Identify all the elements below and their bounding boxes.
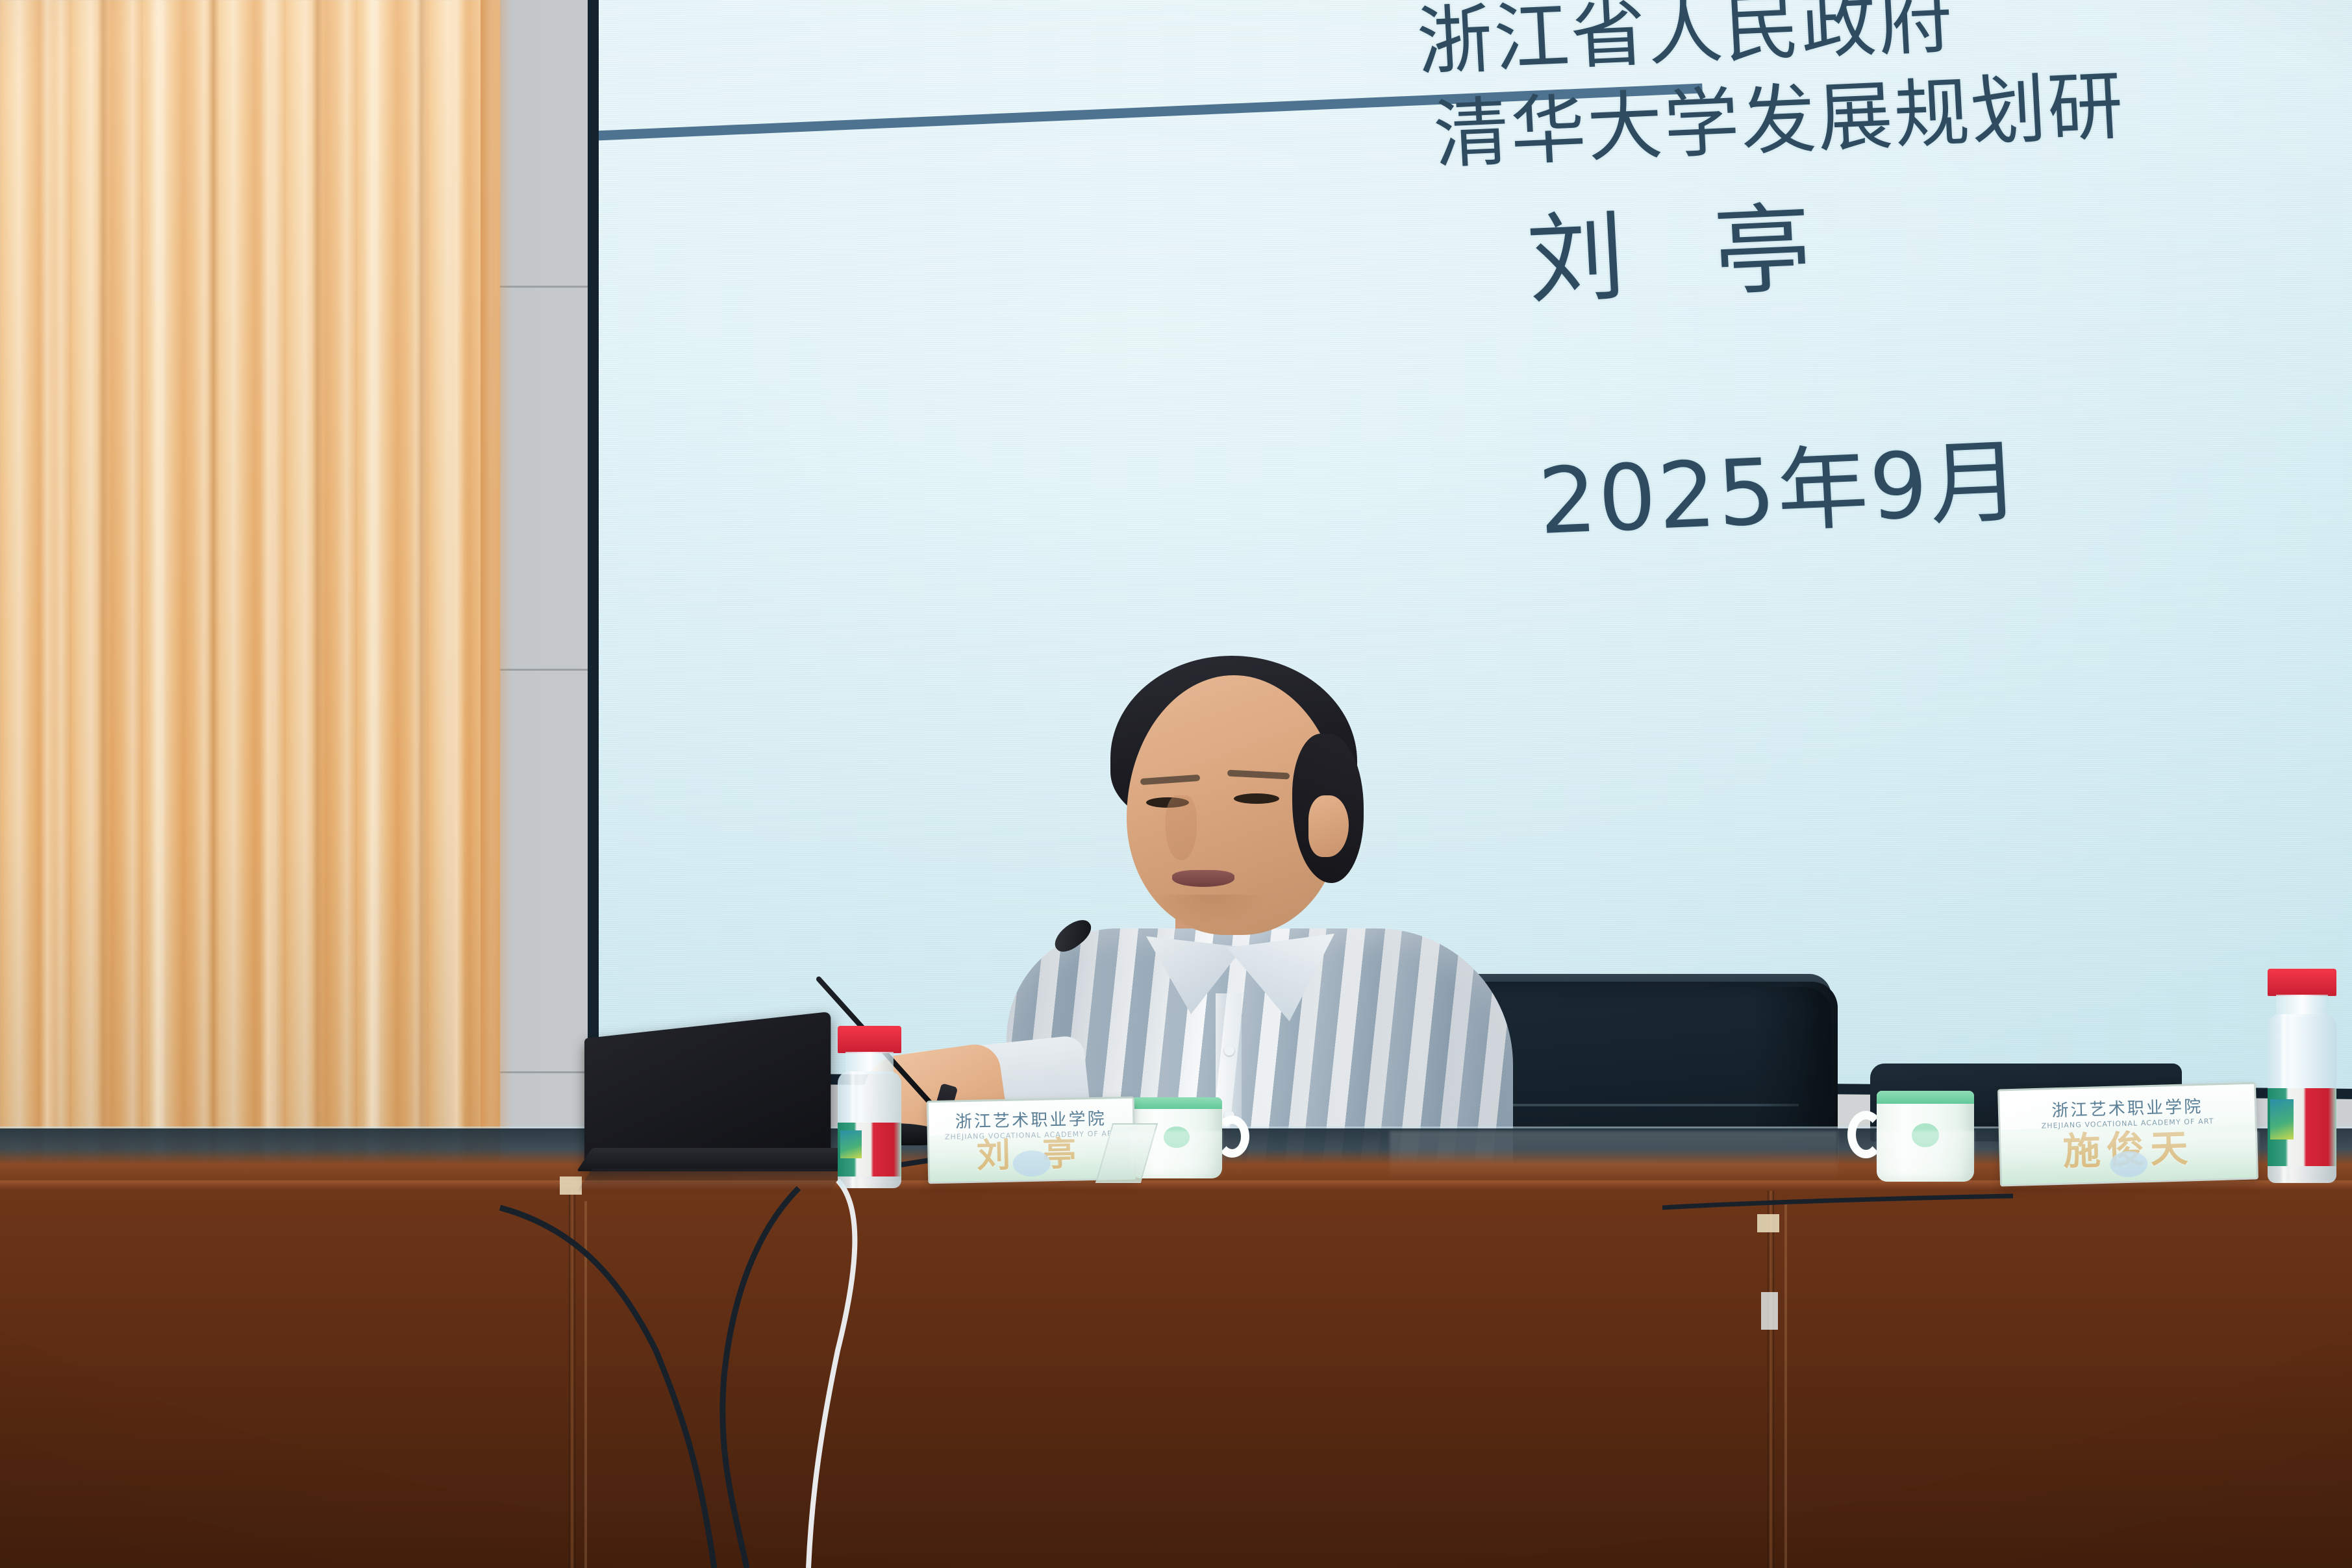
- conference-scene: 浙江省人民政府 清华大学发展规划研 刘 亭 2025年9月: [0, 0, 2352, 1568]
- curtain-fold-shadow: [416, 0, 427, 1169]
- mug-rim: [1877, 1091, 1974, 1104]
- curtain-fold: [260, 0, 277, 1169]
- curtain-fold: [364, 0, 381, 1169]
- bottle-label-image: [2270, 1099, 2294, 1139]
- bottle-label: [2268, 1088, 2336, 1166]
- mug-reflection: [1877, 1131, 1974, 1179]
- chair-reflection: [1390, 1131, 1838, 1179]
- eye-right: [1234, 793, 1279, 804]
- water-bottle-left[interactable]: [838, 1026, 901, 1188]
- curtain-fold: [149, 0, 166, 1169]
- bottle-body: [2268, 1014, 2336, 1183]
- bottle-body: [838, 1071, 901, 1188]
- nose: [1166, 795, 1197, 860]
- curtain-fold-shadow: [312, 0, 323, 1169]
- bottle-neck: [2276, 995, 2329, 1017]
- curtain-edge: [481, 0, 512, 1169]
- mouth: [1172, 870, 1234, 887]
- curtain-fold-shadow: [208, 0, 219, 1169]
- laptop-screen-lid[interactable]: [584, 1012, 831, 1170]
- curtain-fold: [448, 0, 465, 1169]
- power-cable: [500, 1208, 714, 1568]
- laptop-reflection: [577, 1169, 845, 1192]
- water-bottle-right[interactable]: [2268, 969, 2336, 1183]
- slide-speaker-name: 刘 亭: [1523, 169, 1844, 323]
- bottle-cap: [838, 1026, 901, 1053]
- mug-rim: [1131, 1097, 1222, 1109]
- slide-logo: [599, 0, 642, 267]
- bottle-label-image: [840, 1130, 862, 1158]
- mug-reflection: [1131, 1131, 1222, 1179]
- curtain-fold-shadow: [97, 0, 109, 1169]
- nameplate-reflection: [929, 1131, 1136, 1179]
- desk-cable-right: [1662, 1196, 2013, 1208]
- bottle-cap: [2268, 969, 2336, 996]
- chin-shadow: [1153, 895, 1270, 926]
- white-cable: [808, 1180, 855, 1568]
- curtain-fold: [39, 0, 56, 1169]
- slide-date: 2025年9月: [1535, 408, 2025, 560]
- nameplate-reflection: [2000, 1131, 2258, 1179]
- bottle-neck: [845, 1052, 894, 1074]
- laptop-base[interactable]: [577, 1148, 865, 1171]
- bottle-label: [838, 1123, 901, 1176]
- av-cable: [723, 1188, 799, 1568]
